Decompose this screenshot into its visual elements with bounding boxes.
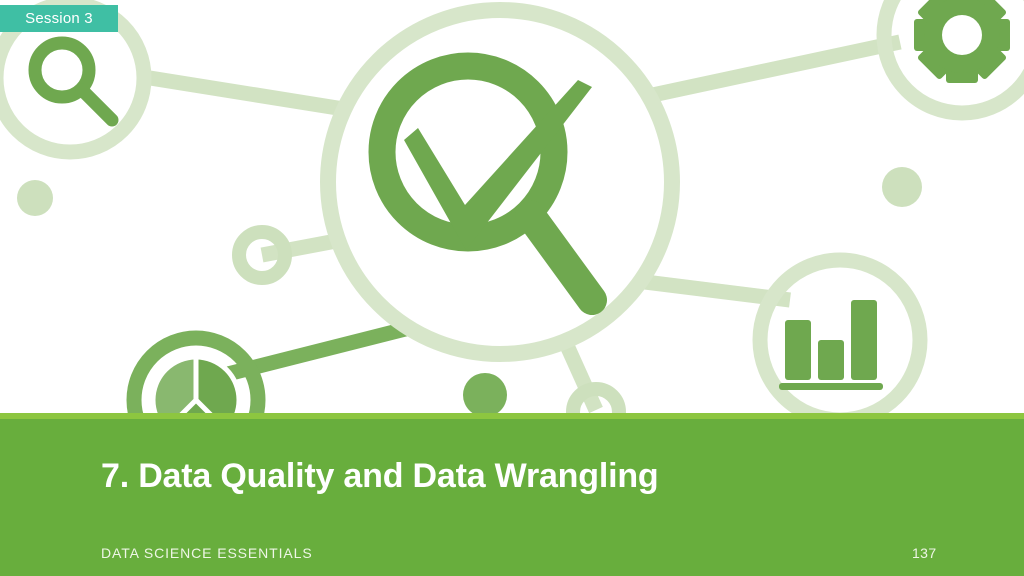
title-banner: 7. Data Quality and Data Wrangling DATA … (0, 413, 1024, 576)
dot-bottom-center (463, 373, 507, 417)
footer-label: DATA SCIENCE ESSENTIALS (101, 545, 313, 561)
search-icon (35, 43, 112, 120)
bar-chart-node (760, 260, 920, 420)
page-title: 7. Data Quality and Data Wrangling (101, 457, 658, 496)
session-badge: Session 3 (0, 5, 118, 32)
magnifier-check-node (328, 10, 672, 354)
bar-chart-icon (779, 300, 883, 390)
dot-left (17, 180, 53, 216)
gear-icon (914, 0, 1010, 83)
dot-right (882, 167, 922, 207)
slide-root: Session 3 7. Data Quality and Data Wrang… (0, 0, 1024, 576)
gear-node (884, 0, 1024, 113)
page-number: 137 (912, 545, 937, 561)
banner-top-stripe (0, 413, 1024, 419)
